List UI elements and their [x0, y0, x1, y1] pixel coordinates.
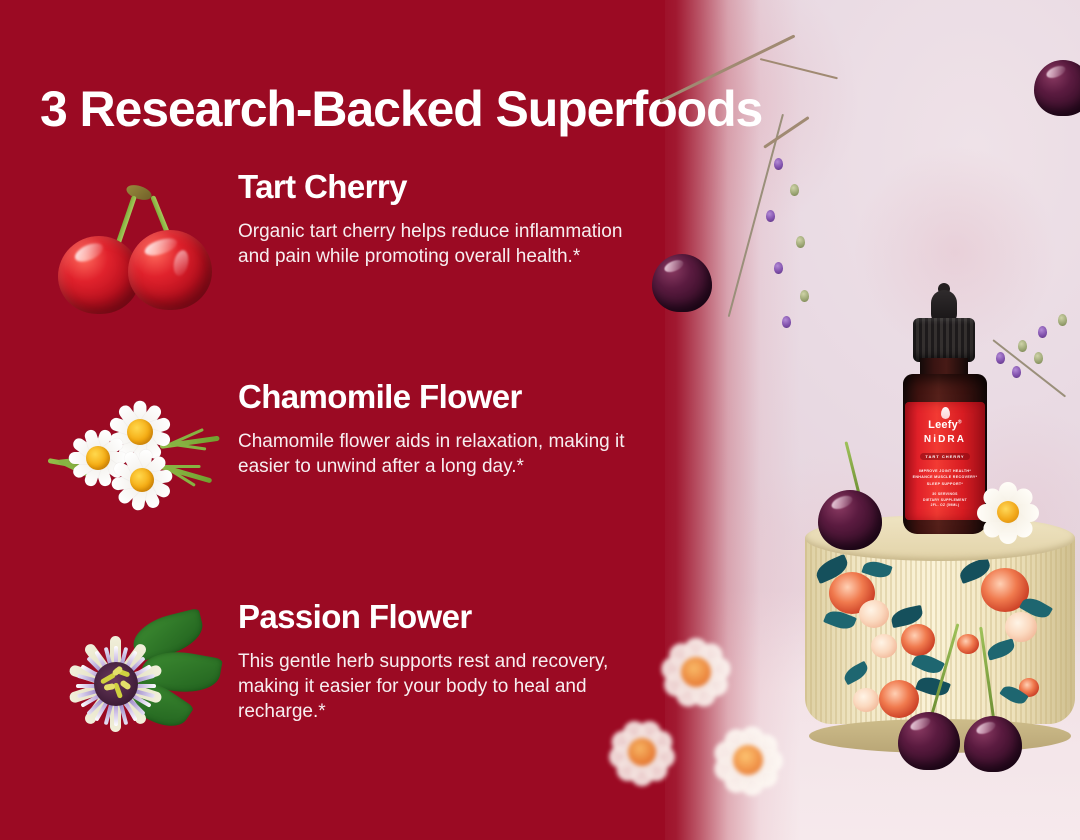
- dark-cherry-front-left: [898, 712, 960, 770]
- bottle-label: Leefy® NiDRA TART CHERRY IMPROVE JOINT H…: [905, 402, 985, 520]
- dark-cherry-top-left: [652, 254, 712, 312]
- ingredient-description: Organic tart cherry helps reduce inflamm…: [238, 219, 638, 269]
- cherry-fruit: [128, 230, 212, 310]
- product-name: NiDRA: [905, 435, 985, 445]
- ingredient-description: This gentle herb supports rest and recov…: [238, 649, 638, 724]
- passion-flower-icon: [48, 608, 223, 748]
- dark-cherry-on-pedestal: [818, 490, 882, 550]
- claim-item: SLEEP SUPPORT*: [905, 481, 985, 487]
- infographic-canvas: Leefy® NiDRA TART CHERRY IMPROVE JOINT H…: [0, 0, 1080, 840]
- dried-twig-upper: [660, 30, 880, 150]
- leaf-logo-icon: [941, 407, 950, 419]
- product-flavor: TART CHERRY: [920, 453, 969, 460]
- cherry-stem: [115, 195, 137, 246]
- product-claims: IMPROVE JOINT HEALTH* ENHANCE MUSCLE REC…: [905, 468, 985, 487]
- bottle-cap: [913, 318, 975, 362]
- cherry-stem-knot: [125, 182, 154, 202]
- claim-item: ENHANCE MUSCLE RECOVERY*: [905, 474, 985, 480]
- lavender-sprig-left: [678, 110, 838, 410]
- ingredient-description: Chamomile flower aids in relaxation, mak…: [238, 429, 638, 479]
- passion-flower-center: [94, 662, 138, 706]
- dark-cherry-front-right: [964, 716, 1022, 772]
- ingredient-title: Passion Flower: [238, 600, 638, 635]
- cherries-icon: [48, 178, 223, 318]
- product-photo-panel: Leefy® NiDRA TART CHERRY IMPROVE JOINT H…: [600, 0, 1080, 840]
- net-volume: 2FL. OZ (59ML): [905, 503, 985, 509]
- ingredient-title: Tart Cherry: [238, 170, 638, 205]
- chamomile-flowers-icon: [48, 388, 223, 528]
- product-facts: 30 SERVINGS DIETARY SUPPLEMENT 2FL. OZ (…: [905, 492, 985, 509]
- passion-flower-bloom: [64, 632, 168, 736]
- registered-mark: ®: [958, 419, 962, 425]
- brand-name: Leefy®: [905, 420, 985, 431]
- product-bottle: Leefy® NiDRA TART CHERRY IMPROVE JOINT H…: [891, 290, 999, 540]
- pedestal-side: [805, 538, 1075, 724]
- ingredient-title: Chamomile Flower: [238, 380, 638, 415]
